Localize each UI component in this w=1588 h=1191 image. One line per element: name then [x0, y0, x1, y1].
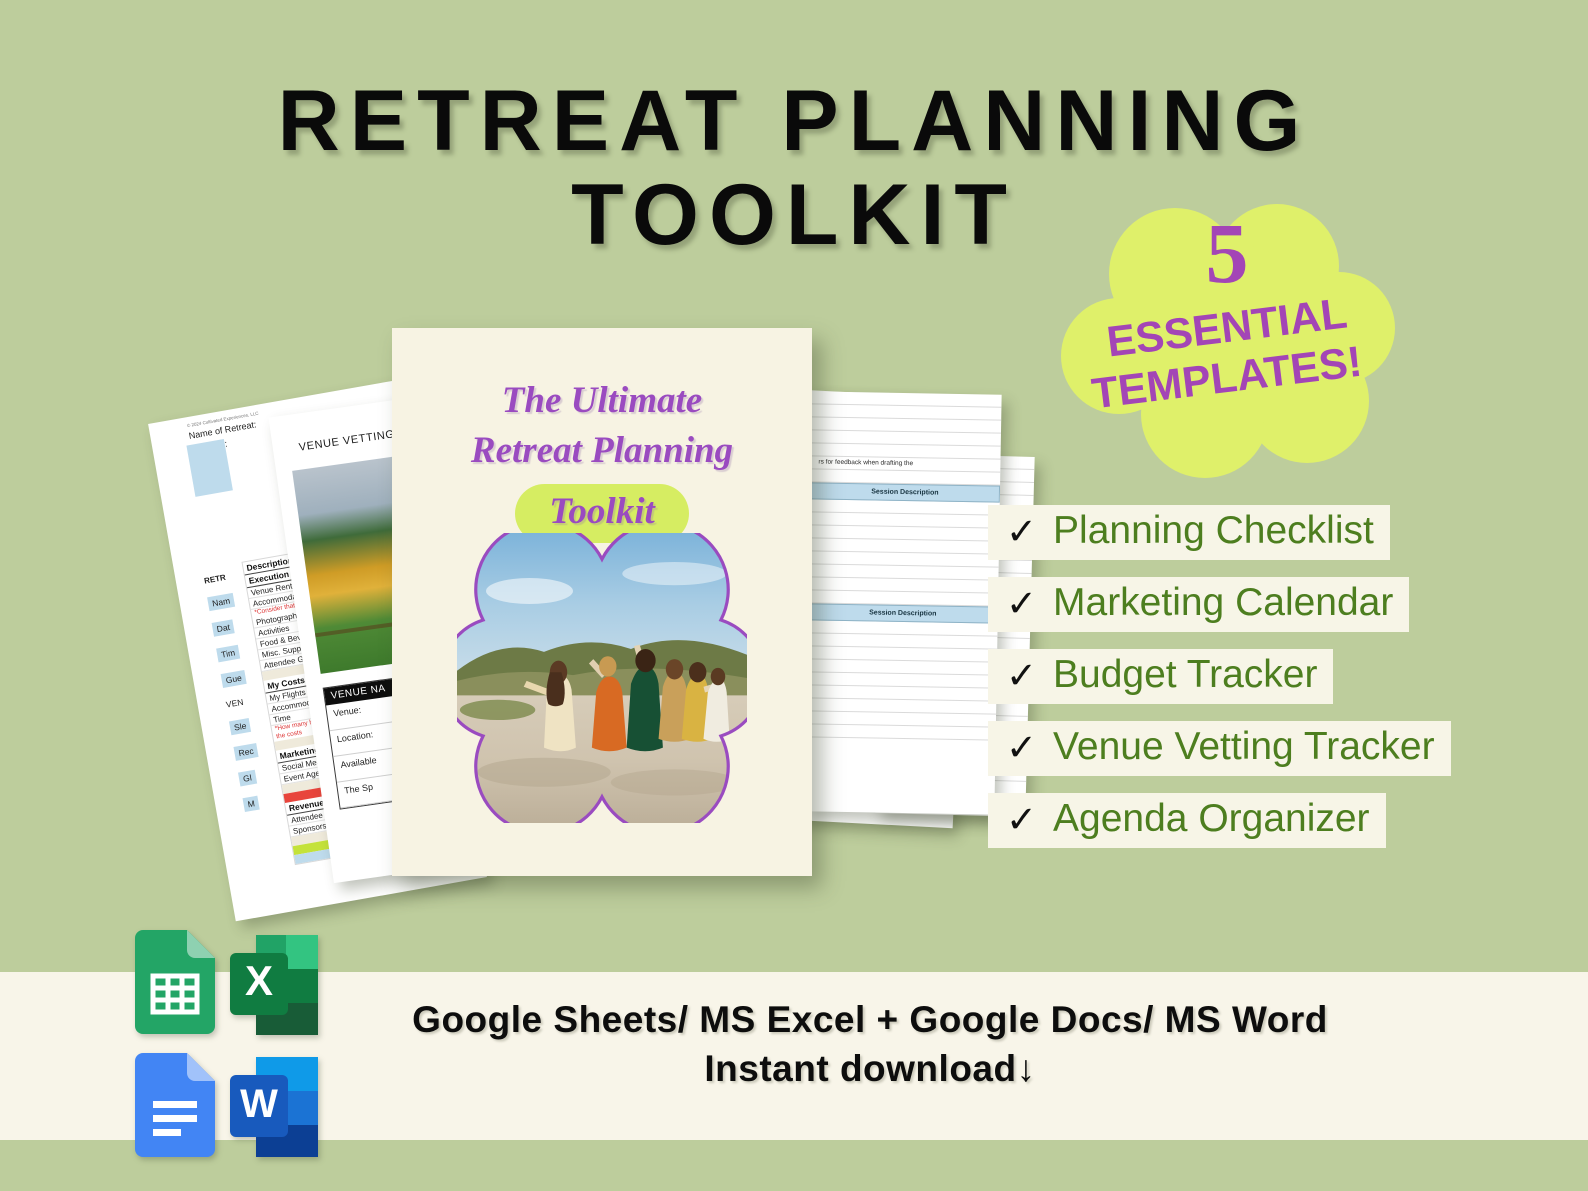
- sheet-line: [806, 724, 996, 740]
- google-docs-icon: [135, 1053, 215, 1157]
- app-icons-group: X W: [130, 925, 360, 1170]
- feature-row: ✓ Marketing Calendar: [988, 577, 1508, 632]
- feature-row: ✓ Agenda Organizer: [988, 793, 1508, 848]
- footer-line-2: Instant download↓: [340, 1044, 1400, 1093]
- title-line-1: RETREAT PLANNING: [0, 78, 1588, 166]
- feature-label: Planning Checklist: [1053, 511, 1374, 552]
- cover-photo-flower-frame: [457, 533, 747, 823]
- budget-left-label: Gl: [238, 770, 257, 787]
- check-icon: ✓: [1006, 729, 1037, 766]
- feature-item-agenda-organizer[interactable]: ✓ Agenda Organizer: [988, 793, 1386, 848]
- feature-item-marketing-calendar[interactable]: ✓ Marketing Calendar: [988, 577, 1409, 632]
- essential-templates-badge: 5 ESSENTIAL TEMPLATES!: [1057, 196, 1397, 478]
- feature-label: Agenda Organizer: [1053, 799, 1370, 840]
- check-icon: ✓: [1006, 585, 1037, 622]
- budget-left-label: Nam: [207, 593, 235, 611]
- feature-label: Venue Vetting Tracker: [1053, 727, 1435, 768]
- budget-left-label: Gue: [221, 670, 247, 688]
- cover-title-line-1: The Ultimate: [392, 376, 812, 426]
- check-icon: ✓: [1006, 513, 1037, 550]
- budget-left-label: M: [243, 796, 260, 812]
- check-icon: ✓: [1006, 801, 1037, 838]
- svg-text:X: X: [245, 957, 273, 1004]
- budget-left-label: Dat: [212, 619, 235, 636]
- feature-row: ✓ Venue Vetting Tracker: [988, 721, 1508, 776]
- budget-left-label: Rec: [233, 743, 258, 761]
- feature-row: ✓ Budget Tracker: [988, 649, 1508, 704]
- footer-text: Google Sheets/ MS Excel + Google Docs/ M…: [340, 995, 1400, 1093]
- feature-label: Budget Tracker: [1053, 655, 1317, 696]
- microsoft-word-icon: W: [230, 1055, 318, 1159]
- svg-text:W: W: [240, 1082, 278, 1126]
- cover-title-line-2: Retreat Planning: [392, 426, 812, 476]
- feature-label: Marketing Calendar: [1053, 583, 1393, 624]
- check-icon: ✓: [1006, 657, 1037, 694]
- budget-left-label: Sle: [229, 718, 251, 735]
- budget-left-label: Tim: [216, 645, 240, 663]
- microsoft-excel-icon: X: [230, 933, 318, 1037]
- feature-row: ✓ Planning Checklist: [988, 505, 1508, 560]
- session-description-document: rs for feedback when drafting the Sessio…: [804, 391, 1001, 814]
- toolkit-cover-document: The Ultimate Retreat Planning Toolkit: [392, 328, 812, 876]
- feature-list: ✓ Planning Checklist ✓ Marketing Calenda…: [988, 505, 1508, 865]
- google-sheets-icon: [135, 930, 215, 1034]
- feature-item-planning-checklist[interactable]: ✓ Planning Checklist: [988, 505, 1390, 560]
- cover-title: The Ultimate Retreat Planning Toolkit: [392, 328, 812, 543]
- badge-number: 5: [1057, 210, 1397, 296]
- feature-item-venue-vetting-tracker[interactable]: ✓ Venue Vetting Tracker: [988, 721, 1451, 776]
- footer-line-1: Google Sheets/ MS Excel + Google Docs/ M…: [340, 995, 1400, 1044]
- feature-item-budget-tracker[interactable]: ✓ Budget Tracker: [988, 649, 1333, 704]
